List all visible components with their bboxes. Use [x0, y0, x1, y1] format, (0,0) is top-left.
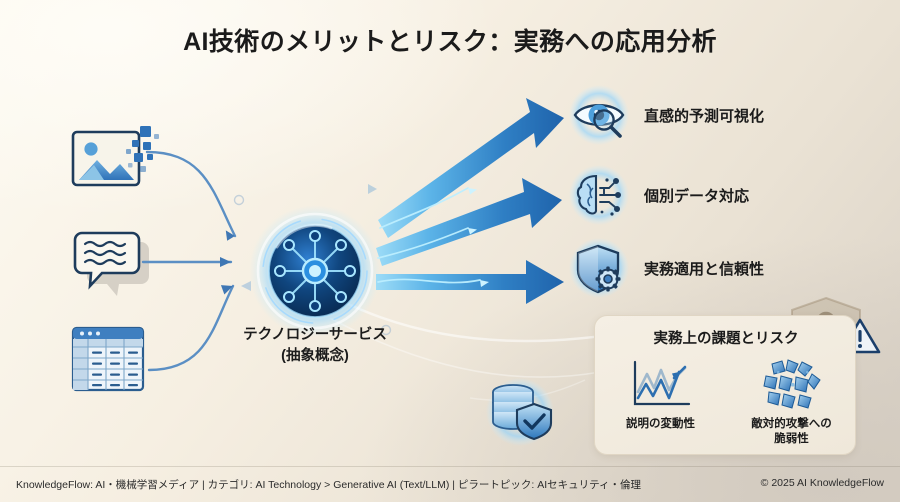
outcome-icon-wrap-2: [568, 164, 630, 226]
risk-label-2: 敵対的攻撃への 脆弱性: [751, 417, 832, 447]
footer-source-text: KnowledgeFlow: AI・機械学習メディア | カテゴリ: AI Te…: [16, 477, 641, 492]
footer-divider: [0, 466, 900, 467]
image-pixels-icon: [70, 120, 162, 198]
source-text-data[interactable]: [70, 227, 150, 297]
secure-data-store[interactable]: [480, 378, 560, 450]
risk-label-2-line1: 敵対的攻撃への: [751, 417, 832, 432]
risk-panel: 実務上の課題とリスク 説明の変動性: [594, 315, 856, 455]
hub-label-main: テクノロジーサービス: [180, 325, 450, 346]
arrow-to-outcome-3: [376, 260, 564, 304]
outcome-item-3[interactable]: 実務適用と信頼性: [568, 237, 764, 299]
eye-magnifier-icon: [568, 84, 630, 146]
arrow-to-outcome-1: [378, 98, 564, 238]
brain-circuit-icon: [568, 164, 630, 226]
hub-label: テクノロジーサービス (抽象概念): [180, 325, 450, 367]
shield-gear-icon: [568, 237, 630, 299]
source-image-data[interactable]: [70, 120, 162, 198]
outcome-item-2[interactable]: 個別データ対応: [568, 164, 749, 226]
network-node-sphere-icon: [247, 203, 383, 339]
risk-label-1: 説明の変動性: [626, 417, 695, 432]
risk-label-2-line2: 脆弱性: [751, 432, 832, 447]
outcome-icon-wrap-3: [568, 237, 630, 299]
arrow-to-outcome-2: [376, 178, 562, 266]
hub-label-sub: (抽象概念): [180, 346, 450, 367]
data-table-icon: [70, 325, 148, 395]
fragmented-shatter-icon: [758, 358, 826, 412]
speech-bubble-text-icon: [70, 227, 150, 297]
risk-panel-title: 実務上の課題とリスク: [595, 327, 857, 348]
footer-copyright-text: © 2025 AI KnowledgeFlow: [761, 477, 884, 489]
risk-items: 説明の変動性: [595, 358, 857, 447]
database-shield-icon: [480, 378, 560, 450]
outcome-label-3: 実務適用と信頼性: [644, 258, 764, 279]
source-table-data[interactable]: [70, 325, 148, 395]
volatility-line-chart-icon: [627, 358, 695, 412]
central-hub[interactable]: [247, 203, 383, 339]
risk-item-1[interactable]: 説明の変動性: [595, 358, 726, 447]
page-title: AI技術のメリットとリスク：実務への応用分析: [0, 22, 900, 58]
risk-item-2[interactable]: 敵対的攻撃への 脆弱性: [726, 358, 857, 447]
outcome-label-2: 個別データ対応: [644, 185, 749, 206]
outcome-item-1[interactable]: 直感的予測可視化: [568, 84, 764, 146]
outcome-label-1: 直感的予測可視化: [644, 105, 764, 126]
outcome-icon-wrap-1: [568, 84, 630, 146]
infographic-canvas: AI技術のメリットとリスク：実務への応用分析: [0, 0, 900, 502]
